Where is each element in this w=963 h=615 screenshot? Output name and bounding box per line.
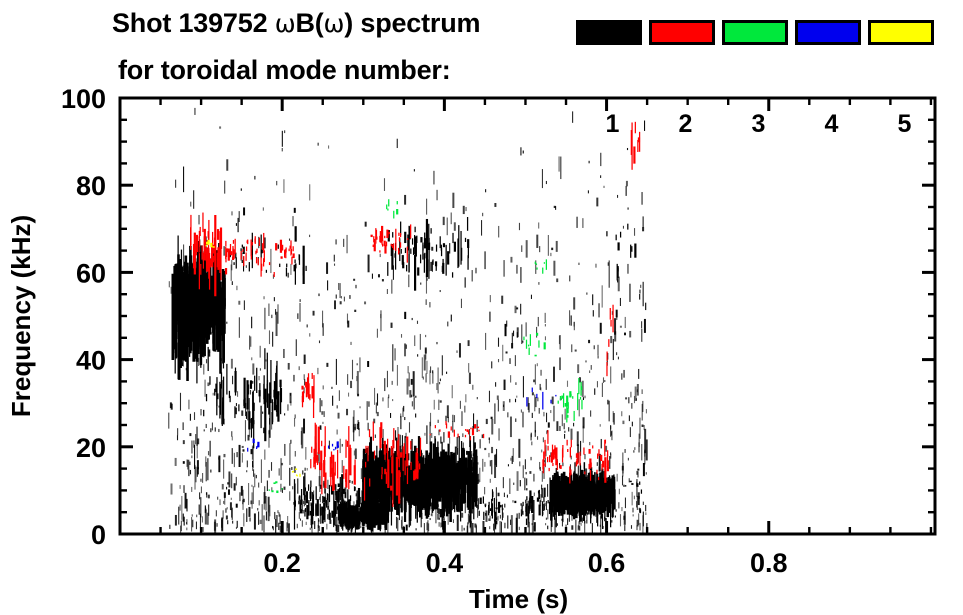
y-tick-label: 100 [61, 84, 106, 114]
y-tick-label: 60 [76, 258, 106, 288]
y-tick-label: 20 [76, 433, 106, 463]
cluster-n-4-1 [527, 388, 556, 410]
cluster-n-3-4 [269, 481, 282, 493]
cluster-n-4-2 [329, 441, 339, 450]
x-tick-label: 0.8 [750, 548, 788, 578]
cluster-n-3-1 [524, 333, 545, 357]
y-axis-label: Frequency (kHz) [6, 215, 36, 417]
cluster-n-1-13 [607, 224, 635, 281]
plot-frame [120, 98, 935, 534]
y-tick-label: 0 [91, 520, 106, 550]
x-tick-label: 0.6 [588, 548, 626, 578]
axes-layer [120, 98, 935, 534]
cluster-n-3-3 [535, 259, 546, 273]
cluster-n-5-0 [293, 468, 300, 476]
plot-area: 0.20.40.60.8020406080100Time (s)Frequenc… [0, 0, 963, 615]
x-tick-label: 0.4 [426, 548, 464, 578]
cluster-n-1-7 [388, 217, 469, 291]
cluster-n-2-9 [631, 122, 639, 170]
y-tick-label: 80 [76, 171, 106, 201]
cluster-n-2-5 [372, 224, 411, 262]
x-tick-label: 0.2 [263, 548, 301, 578]
spectrogram-canvas: 0.20.40.60.8020406080100Time (s)Frequenc… [0, 0, 963, 615]
cluster-n-2-3 [311, 423, 355, 495]
spectrogram-data-layer [169, 108, 647, 539]
spectrogram-figure: Shot 139752 ωB(ω) spectrum for toroidal … [0, 0, 963, 615]
x-axis-label: Time (s) [469, 584, 568, 614]
cluster-n-3-0 [387, 199, 398, 218]
y-tick-label: 40 [76, 346, 106, 376]
cluster-n-1-12 [624, 481, 641, 494]
